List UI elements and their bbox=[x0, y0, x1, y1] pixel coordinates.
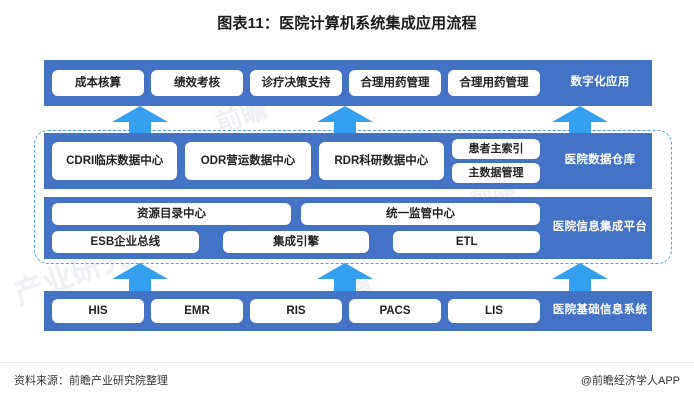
arrow-up-icon bbox=[317, 263, 373, 291]
box-pacs[interactable]: PACS bbox=[349, 299, 441, 323]
layer-base-information-systems: HIS EMR RIS PACS LIS 医院基础信息系统 bbox=[44, 291, 652, 331]
arrow-stem bbox=[334, 278, 356, 292]
diagram-canvas: 前瞻 产业研究院 前瞻 中国 成本核算 绩效考核 诊疗决策支持 合理用药管理 合… bbox=[0, 40, 694, 350]
layer-digital-applications: 成本核算 绩效考核 诊疗决策支持 合理用药管理 合理用药管理 数字化应用 bbox=[44, 60, 652, 106]
arrow-head bbox=[317, 263, 373, 279]
box-rational-drug-use-1[interactable]: 合理用药管理 bbox=[349, 70, 441, 96]
box-lis[interactable]: LIS bbox=[448, 299, 540, 323]
footer-divider bbox=[0, 362, 694, 363]
layer-2-boxes: CDRI临床数据中心 ODR营运数据中心 RDR科研数据中心 患者主索引 主数据… bbox=[44, 133, 548, 189]
layer-4-label: 医院基础信息系统 bbox=[548, 304, 652, 318]
box-integration-engine[interactable]: 集成引擎 bbox=[223, 231, 370, 253]
box-odr-operations-data-center[interactable]: ODR营运数据中心 bbox=[185, 142, 310, 180]
layer-integration-platform: 资源目录中心 统一监管中心 ESB企业总线 集成引擎 ETL 医院信息集成平台 bbox=[44, 197, 652, 259]
page-title: 图表11：医院计算机系统集成应用流程 bbox=[0, 12, 694, 33]
arrow-stem bbox=[569, 278, 591, 292]
layer-2-stacked-boxes: 患者主索引 主数据管理 bbox=[452, 139, 540, 183]
box-his[interactable]: HIS bbox=[52, 299, 144, 323]
box-rational-drug-use-2[interactable]: 合理用药管理 bbox=[448, 70, 540, 96]
arrow-up-icon bbox=[112, 263, 168, 291]
layer-3-boxes: 资源目录中心 统一监管中心 ESB企业总线 集成引擎 ETL bbox=[44, 197, 548, 259]
layer-3-row-top: 资源目录中心 统一监管中心 bbox=[52, 203, 540, 225]
box-ris[interactable]: RIS bbox=[250, 299, 342, 323]
box-esb-enterprise-bus[interactable]: ESB企业总线 bbox=[52, 231, 199, 253]
arrow-up-icon bbox=[552, 263, 608, 291]
layer-hospital-data-warehouse: CDRI临床数据中心 ODR营运数据中心 RDR科研数据中心 患者主索引 主数据… bbox=[44, 133, 652, 189]
box-master-data-management[interactable]: 主数据管理 bbox=[452, 163, 540, 183]
box-cost-accounting[interactable]: 成本核算 bbox=[52, 70, 144, 96]
box-clinical-decision-support[interactable]: 诊疗决策支持 bbox=[250, 70, 342, 96]
box-performance-assessment[interactable]: 绩效考核 bbox=[151, 70, 243, 96]
brand-watermark: @前瞻经济学人APP bbox=[581, 372, 680, 388]
arrow-head bbox=[112, 106, 168, 122]
layer-3-label: 医院信息集成平台 bbox=[548, 221, 652, 235]
layer-2-label: 医院数据仓库 bbox=[548, 154, 652, 168]
layer-4-boxes: HIS EMR RIS PACS LIS bbox=[44, 291, 548, 331]
layer-1-boxes: 成本核算 绩效考核 诊疗决策支持 合理用药管理 合理用药管理 bbox=[44, 60, 548, 106]
arrow-head bbox=[552, 263, 608, 279]
layer-1-label: 数字化应用 bbox=[548, 76, 652, 90]
arrow-head bbox=[112, 263, 168, 279]
arrow-head bbox=[317, 106, 373, 122]
box-etl[interactable]: ETL bbox=[393, 231, 540, 253]
source-note: 资料来源：前瞻产业研究院整理 bbox=[14, 372, 168, 388]
box-emr[interactable]: EMR bbox=[151, 299, 243, 323]
box-resource-catalog-center[interactable]: 资源目录中心 bbox=[52, 203, 291, 225]
box-unified-supervision-center[interactable]: 统一监管中心 bbox=[301, 203, 540, 225]
box-patient-master-index[interactable]: 患者主索引 bbox=[452, 139, 540, 159]
arrow-head bbox=[552, 106, 608, 122]
arrow-up-icon bbox=[317, 106, 373, 134]
arrow-up-icon bbox=[112, 106, 168, 134]
arrow-up-icon bbox=[552, 106, 608, 134]
layer-3-row-bottom: ESB企业总线 集成引擎 ETL bbox=[52, 231, 540, 253]
box-rdr-research-data-center[interactable]: RDR科研数据中心 bbox=[319, 142, 444, 180]
arrow-stem bbox=[129, 278, 151, 292]
box-cdri-clinical-data-center[interactable]: CDRI临床数据中心 bbox=[52, 142, 177, 180]
